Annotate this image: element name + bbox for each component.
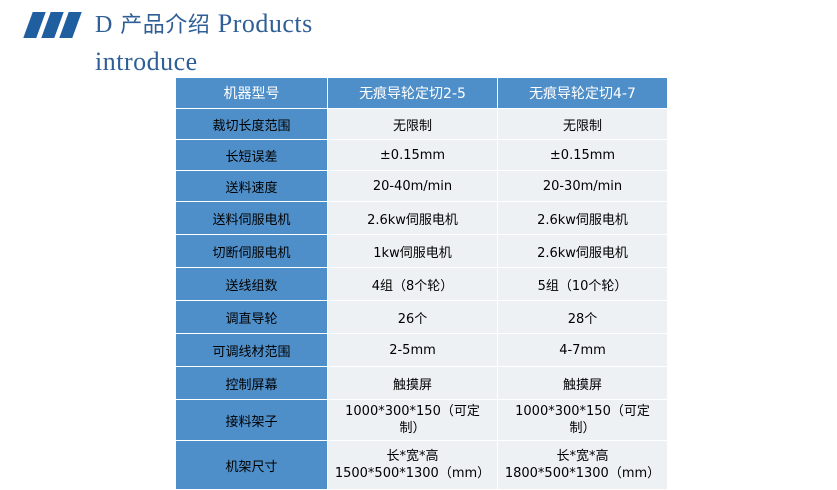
page-title-cn: 产品介绍: [120, 13, 210, 38]
row-value-a-line2: 制）: [331, 420, 494, 437]
row-label: 送料速度: [176, 171, 328, 202]
row-label: 长短误差: [176, 140, 328, 171]
row-label: 送线组数: [176, 268, 328, 301]
decorative-stripes: [28, 12, 90, 38]
row-label: 接料架子: [176, 400, 328, 441]
row-value-b-line2: 制）: [501, 420, 664, 437]
row-value-a: 20-40m/min: [328, 171, 498, 202]
page-title-letter: D: [95, 12, 113, 38]
row-label: 机架尺寸: [176, 441, 328, 490]
row-value-b: 触摸屏: [498, 367, 668, 400]
row-value-b: 4-7mm: [498, 334, 668, 367]
row-value-a: 长*宽*高 1500*500*1300（mm）: [328, 441, 498, 490]
table-header-cell-model-b: 无痕导轮定切4-7: [498, 78, 668, 109]
row-label: 切断伺服电机: [176, 235, 328, 268]
table-row: 控制屏幕 触摸屏 触摸屏: [176, 367, 668, 400]
table-row: 送料伺服电机 2.6kw伺服电机 2.6kw伺服电机: [176, 202, 668, 235]
table-row: 可调线材范围 2-5mm 4-7mm: [176, 334, 668, 367]
table-header-cell-model: 机器型号: [176, 78, 328, 109]
row-value-a: 触摸屏: [328, 367, 498, 400]
row-value-a: 1000*300*150（可定 制）: [328, 400, 498, 441]
row-value-b: 5组（10个轮）: [498, 268, 668, 301]
spec-table: 机器型号 无痕导轮定切2-5 无痕导轮定切4-7 裁切长度范围 无限制 无限制 …: [175, 77, 668, 490]
table-row: 接料架子 1000*300*150（可定 制） 1000*300*150（可定 …: [176, 400, 668, 441]
page-title-en-2: introduce: [95, 47, 198, 76]
table-header-cell-model-a: 无痕导轮定切2-5: [328, 78, 498, 109]
row-value-a-line2: 1500*500*1300（mm）: [331, 465, 494, 482]
stripe-bar: [59, 12, 81, 38]
row-value-a: 2.6kw伺服电机: [328, 202, 498, 235]
table-header-row: 机器型号 无痕导轮定切2-5 无痕导轮定切4-7: [176, 78, 668, 109]
row-value-b: 2.6kw伺服电机: [498, 202, 668, 235]
table-row: 送线组数 4组（8个轮） 5组（10个轮）: [176, 268, 668, 301]
row-value-a-line1: 1000*300*150（可定: [331, 403, 494, 420]
slide-header: D 产品介绍 Products introduce: [0, 0, 837, 72]
row-value-b: ±0.15mm: [498, 140, 668, 171]
row-value-a: 4组（8个轮）: [328, 268, 498, 301]
row-value-b-line2: 1800*500*1300（mm）: [501, 465, 664, 482]
row-value-a: 1kw伺服电机: [328, 235, 498, 268]
row-value-b: 1000*300*150（可定 制）: [498, 400, 668, 441]
row-value-b: 2.6kw伺服电机: [498, 235, 668, 268]
page-title-en-1: Products: [218, 9, 313, 38]
row-value-b: 无限制: [498, 109, 668, 140]
table-row: 裁切长度范围 无限制 无限制: [176, 109, 668, 140]
table-row: 切断伺服电机 1kw伺服电机 2.6kw伺服电机: [176, 235, 668, 268]
row-label: 调直导轮: [176, 301, 328, 334]
table-row: 机架尺寸 长*宽*高 1500*500*1300（mm） 长*宽*高 1800*…: [176, 441, 668, 490]
row-value-a: 2-5mm: [328, 334, 498, 367]
row-value-a: 26个: [328, 301, 498, 334]
row-value-a: 无限制: [328, 109, 498, 140]
row-value-b-line1: 长*宽*高: [501, 448, 664, 465]
row-label: 可调线材范围: [176, 334, 328, 367]
table-row: 送料速度 20-40m/min 20-30m/min: [176, 171, 668, 202]
row-label: 裁切长度范围: [176, 109, 328, 140]
table-row: 调直导轮 26个 28个: [176, 301, 668, 334]
row-value-b-line1: 1000*300*150（可定: [501, 403, 664, 420]
row-value-b: 长*宽*高 1800*500*1300（mm）: [498, 441, 668, 490]
row-label: 送料伺服电机: [176, 202, 328, 235]
table-row: 长短误差 ±0.15mm ±0.15mm: [176, 140, 668, 171]
row-value-a: ±0.15mm: [328, 140, 498, 171]
row-value-b: 20-30m/min: [498, 171, 668, 202]
row-label: 控制屏幕: [176, 367, 328, 400]
row-value-b: 28个: [498, 301, 668, 334]
page-title: D 产品介绍 Products introduce: [95, 6, 795, 80]
row-value-a-line1: 长*宽*高: [331, 448, 494, 465]
